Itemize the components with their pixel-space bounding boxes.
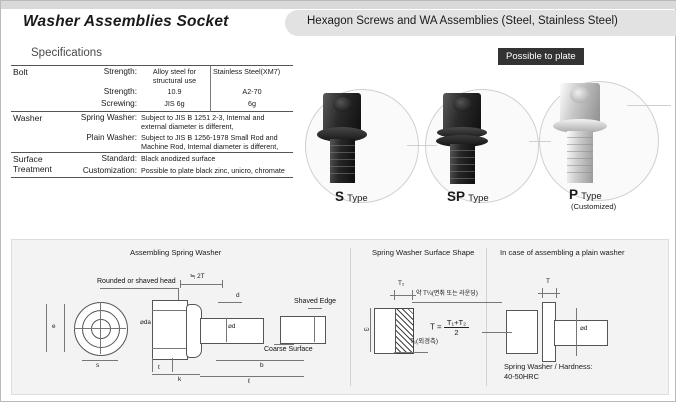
washer-section-box — [374, 308, 396, 354]
label-chamfer: 약 T¼(면취 또는 라운딩) — [416, 288, 478, 297]
row-category-surface: Surface Treatment — [11, 152, 77, 178]
cell-steel: JIS 6g — [139, 98, 211, 111]
specifications-table: Bolt Strength: Alloy steel for structura… — [11, 65, 293, 178]
page-title: Washer Assemblies Socket — [23, 13, 283, 31]
cell-stainless: A2-70 — [211, 86, 294, 98]
label-t1: T₁(외경측) — [410, 336, 438, 345]
spec-sheet-page: Washer Assemblies Socket Hexagon Screws … — [0, 0, 676, 402]
dim-plain-d: ⌀d — [580, 324, 587, 332]
dim-da: ⌀da — [140, 318, 151, 326]
table-row: Bolt Strength: Alloy steel for structura… — [11, 66, 293, 87]
bolt-head-side — [152, 300, 188, 360]
panel-divider — [486, 248, 487, 386]
possible-to-plate-badge: Possible to plate — [498, 48, 584, 65]
dim-s: s — [96, 362, 99, 369]
hardness-note: Spring Washer / Hardness: 40-50HRC — [504, 362, 592, 382]
connector-line — [529, 141, 551, 142]
diagram-panel: Assembling Spring Washer Rounded or shav… — [11, 239, 669, 395]
top-grey-band — [1, 1, 676, 9]
row-category-washer: Washer — [11, 111, 77, 152]
cell-value: Possible to plate black zinc, unicro, ch… — [139, 165, 293, 178]
cell-value: Subject to JIS B 1256-1978 Small Rod and… — [139, 132, 293, 153]
dim-d: ⌀d — [228, 322, 235, 330]
type-word-p: Type — [581, 191, 602, 202]
cell-key: Strength: — [77, 66, 139, 87]
diagram2-title: Spring Washer Surface Shape — [372, 248, 474, 257]
type-label-p: P Type — [569, 187, 602, 202]
type-code-s: S — [335, 189, 344, 204]
dim-l: ℓ — [248, 378, 250, 385]
type-word-sp: Type — [468, 193, 489, 204]
type-label-sp: SP Type — [447, 189, 489, 204]
connector-line — [407, 145, 437, 146]
cell-key: Spring Washer: — [77, 111, 139, 132]
header-banner: Hexagon Screws and WA Assemblies (Steel,… — [285, 10, 676, 36]
callout-shaved-edge: Shaved Edge — [294, 298, 336, 305]
cell-value: Black anodized surface — [139, 152, 293, 165]
dim-e: e — [52, 323, 56, 330]
cell-key: Strength: — [77, 86, 139, 98]
row-category-bolt: Bolt — [11, 66, 77, 112]
product-photo-group: S Type SP Type P Type (Customized) — [297, 45, 673, 231]
cell-key: Plain Washer: — [77, 132, 139, 153]
type-label-s: S Type — [335, 189, 368, 204]
cell-steel: Alloy steel for structural use — [139, 66, 211, 87]
formula-denominator: 2 — [444, 328, 469, 337]
dim-t: t — [158, 364, 160, 371]
cell-stainless: Stainless Steel(XM7) — [211, 66, 294, 87]
diagram1-title: Assembling Spring Washer — [130, 248, 221, 257]
type-note-p: (Customized) — [571, 202, 616, 211]
formula-fraction: T₁+T₂ 2 — [444, 318, 469, 337]
dim-b: b — [260, 362, 264, 369]
thickness-formula: T = T₁+T₂ 2 — [430, 318, 469, 337]
cell-stainless: 6g — [211, 98, 294, 111]
table-row: Washer Spring Washer: Subject to JIS B 1… — [11, 111, 293, 132]
type-code-sp: SP — [447, 189, 465, 204]
label-t2: T₂ — [398, 280, 404, 287]
formula-numerator: T₁+T₂ — [444, 318, 469, 328]
callout-coarse-surface: Coarse Surface — [264, 346, 313, 353]
edge-detail — [280, 316, 326, 344]
cell-value: Subject to JIS B 1251 2-3, Internal and … — [139, 111, 293, 132]
dim-k: k — [178, 376, 181, 383]
bolt-front-socket — [91, 319, 111, 339]
dim-2t: ≒ 2T — [190, 272, 205, 280]
cell-key: Standard: — [77, 152, 139, 165]
cell-key: Screwing: — [77, 98, 139, 111]
specifications-heading: Specifications — [31, 47, 102, 59]
connector-line — [627, 105, 671, 106]
washer-section-hatch — [394, 308, 414, 354]
header-banner-text: Hexagon Screws and WA Assemblies (Steel,… — [307, 15, 618, 27]
label-omega: ω — [364, 326, 369, 333]
table-row: Surface Treatment Standard: Black anodiz… — [11, 152, 293, 165]
cell-steel: 10.9 — [139, 86, 211, 98]
type-code-p: P — [569, 187, 578, 202]
type-word-s: Type — [347, 193, 368, 204]
cell-key: Customization: — [77, 165, 139, 178]
diagram3-title: In case of assembling a plain washer — [500, 248, 625, 257]
formula-lhs: T = — [430, 323, 442, 332]
panel-divider — [350, 248, 351, 386]
dim-plain-t: T — [546, 278, 550, 285]
callout-rounded-head: Rounded or shaved head — [97, 278, 176, 285]
